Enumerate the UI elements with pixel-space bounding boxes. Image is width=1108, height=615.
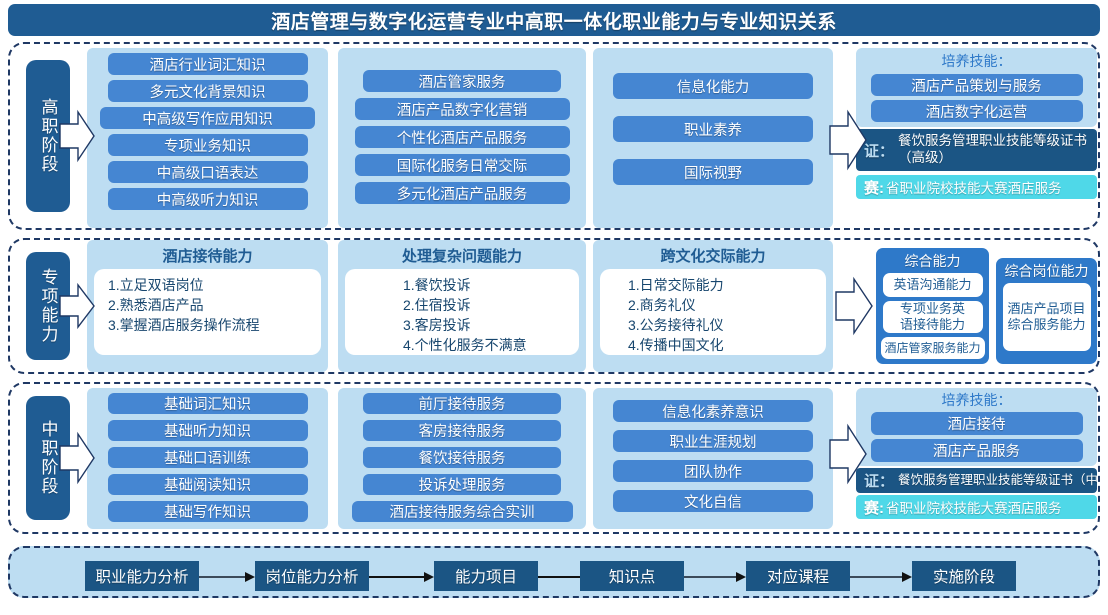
certificate-bar-r1: 证： 餐饮服务管理职业技能等级证书（高级） — [856, 129, 1097, 171]
certificate-text-r3: 餐饮服务管理职业技能等级证书（中 — [898, 473, 1097, 489]
pill-r3c2-3[interactable]: 投诉处理服务 — [363, 474, 561, 495]
flow-step-0[interactable]: 职业能力分析 — [85, 561, 199, 591]
pill-r1c2-1[interactable]: 酒店产品数字化营销 — [355, 98, 570, 120]
pill-r1c1-2[interactable]: 中高级写作应用知识 — [100, 107, 315, 129]
stage-label-secondary-vocational: 中职阶段 — [26, 396, 70, 520]
pill-r3c1-1[interactable]: 基础听力知识 — [108, 420, 308, 441]
panel-r2-col1: 酒店接待能力 1.立足双语岗位 2.熟悉酒店产品 3.掌握酒店服务操作流程 — [87, 240, 328, 372]
flow-step-2[interactable]: 能力项目 — [434, 561, 538, 591]
capability-card-r2c1: 1.立足双语岗位 2.熟悉酒店产品 3.掌握酒店服务操作流程 — [94, 269, 321, 355]
pill-r1c2-0[interactable]: 酒店管家服务 — [363, 70, 561, 92]
composite-post-ability-item-0-text: 酒店产品项目 综合服务能力 — [1007, 301, 1085, 332]
pill-r3c1-2[interactable]: 基础口语训练 — [108, 447, 308, 468]
skills-title-r3: 培养技能： — [856, 388, 1097, 410]
capability-item-r2c2-1: 2.住宿投诉 — [403, 296, 579, 316]
pill-r1c3-0[interactable]: 信息化能力 — [613, 73, 813, 99]
capability-item-r2c1-1: 2.熟悉酒店产品 — [108, 296, 321, 316]
skills-title-r1: 培养技能： — [856, 48, 1097, 71]
pill-r1c1-1[interactable]: 多元文化背景知识 — [108, 80, 308, 102]
capability-item-r2c1-2: 3.掌握酒店服务操作流程 — [108, 316, 321, 336]
pill-r1c1-4[interactable]: 中高级口语表达 — [108, 161, 308, 183]
flow-step-5[interactable]: 实施阶段 — [912, 561, 1016, 591]
panel-r3-col2: 前厅接待服务 客房接待服务 餐饮接待服务 投诉处理服务 酒店接待服务综合实训 — [338, 388, 586, 529]
pill-r3c3-3[interactable]: 文化自信 — [613, 490, 813, 512]
pill-r1c1-0[interactable]: 酒店行业词汇知识 — [108, 53, 308, 75]
flow-step-1[interactable]: 岗位能力分析 — [255, 561, 369, 591]
pill-r1c2-2[interactable]: 个性化酒店产品服务 — [355, 126, 570, 148]
capability-item-r2c3-3: 4.传播中国文化 — [628, 336, 826, 356]
capability-item-r2c2-2: 3.客房投诉 — [403, 316, 579, 336]
pill-r3c3-0[interactable]: 信息化素养意识 — [613, 400, 813, 422]
page-title-text: 酒店管理与数字化运营专业中高职一体化职业能力与专业知识关系 — [271, 7, 837, 34]
composite-ability-item-1-text: 专项业务英 语接待能力 — [900, 301, 965, 332]
composite-ability-item-0[interactable]: 英语沟通能力 — [883, 273, 983, 297]
capability-item-r2c3-1: 2.商务礼仪 — [628, 296, 826, 316]
composite-ability-title: 综合能力 — [876, 248, 989, 273]
capability-item-r2c3-0: 1.日常交际能力 — [628, 276, 826, 296]
flow-connector-3-icon — [684, 570, 746, 582]
pill-r3c2-1[interactable]: 客房接待服务 — [363, 420, 561, 441]
composite-ability-item-1[interactable]: 专项业务英 语接待能力 — [883, 301, 983, 333]
diagram-root: 酒店管理与数字化运营专业中高职一体化职业能力与专业知识关系 高职阶段 酒店行业词… — [0, 0, 1108, 615]
panel-r2-col3: 跨文化交际能力 1.日常交际能力 2.商务礼仪 3.公务接待礼仪 4.传播中国文… — [593, 240, 833, 372]
stage-label-text: 中职阶段 — [38, 420, 57, 496]
stage-label-specialized-ability: 专项能力 — [26, 252, 70, 360]
stage-row-higher-vocational: 高职阶段 酒店行业词汇知识 多元文化背景知识 中高级写作应用知识 专项业务知识 … — [8, 42, 1100, 230]
flow-connector-0-icon — [199, 570, 255, 582]
panel-r3-col1: 基础词汇知识 基础听力知识 基础口语训练 基础阅读知识 基础写作知识 — [87, 388, 328, 529]
composite-ability-box: 综合能力 英语沟通能力 专项业务英 语接待能力 酒店管家服务能力 — [876, 248, 989, 364]
certificate-bar-r3: 证： 餐饮服务管理职业技能等级证书（中 — [856, 468, 1097, 493]
certificate-text-r1: 餐饮服务管理职业技能等级证书（高级） — [898, 133, 1097, 167]
pill-r1c3-1[interactable]: 职业素养 — [613, 116, 813, 142]
capability-item-r2c2-0: 1.餐饮投诉 — [403, 276, 579, 296]
pill-r3c3-1[interactable]: 职业生涯规划 — [613, 430, 813, 452]
stage-row-secondary-vocational: 中职阶段 基础词汇知识 基础听力知识 基础口语训练 基础阅读知识 基础写作知识 … — [8, 382, 1100, 534]
capability-card-r2c2: 1.餐饮投诉 2.住宿投诉 3.客房投诉 4.个性化服务不满意 — [345, 269, 579, 355]
capability-heading-r2c2: 处理复杂问题能力 — [338, 240, 586, 269]
pill-r1c1-3[interactable]: 专项业务知识 — [108, 134, 308, 156]
stage-label-higher-vocational: 高职阶段 — [26, 60, 70, 212]
pill-r1c3-2[interactable]: 国际视野 — [613, 159, 813, 185]
panel-r3-col3: 信息化素养意识 职业生涯规划 团队协作 文化自信 — [593, 388, 833, 529]
panel-r2-col2: 处理复杂问题能力 1.餐饮投诉 2.住宿投诉 3.客房投诉 4.个性化服务不满意 — [338, 240, 586, 372]
skill-pill-r3-1[interactable]: 酒店产品服务 — [871, 439, 1083, 462]
skill-pill-r3-0[interactable]: 酒店接待 — [871, 412, 1083, 435]
panel-r1-col1: 酒店行业词汇知识 多元文化背景知识 中高级写作应用知识 专项业务知识 中高级口语… — [87, 48, 328, 228]
panel-r1-col3: 信息化能力 职业素养 国际视野 — [593, 48, 833, 228]
competition-bar-r1: 赛: 省职业院校技能大赛酒店服务 — [856, 175, 1097, 199]
composite-post-ability-item-0[interactable]: 酒店产品项目 综合服务能力 — [1003, 283, 1091, 351]
pill-r3c1-3[interactable]: 基础阅读知识 — [108, 474, 308, 495]
pill-r1c1-5[interactable]: 中高级听力知识 — [108, 188, 308, 210]
pill-r3c2-2[interactable]: 餐饮接待服务 — [363, 447, 561, 468]
capability-card-r2c3: 1.日常交际能力 2.商务礼仪 3.公务接待礼仪 4.传播中国文化 — [600, 269, 826, 355]
pill-r3c1-0[interactable]: 基础词汇知识 — [108, 393, 308, 414]
panel-r3-skills: 培养技能： 酒店接待 酒店产品服务 — [856, 388, 1097, 466]
flow-step-3[interactable]: 知识点 — [580, 561, 684, 591]
page-title: 酒店管理与数字化运营专业中高职一体化职业能力与专业知识关系 — [8, 4, 1100, 36]
stage-label-text: 高职阶段 — [38, 98, 57, 174]
pill-r3c2-4[interactable]: 酒店接待服务综合实训 — [352, 501, 573, 522]
competition-bar-r3: 赛: 省职业院校技能大赛酒店服务 — [856, 495, 1097, 519]
stage-label-text: 专项能力 — [38, 268, 57, 344]
pill-r3c3-2[interactable]: 团队协作 — [613, 460, 813, 482]
competition-text-r1: 省职业院校技能大赛酒店服务 — [886, 177, 1097, 197]
composite-post-ability-box: 综合岗位能力 酒店产品项目 综合服务能力 — [996, 258, 1097, 364]
flow-step-4[interactable]: 对应课程 — [746, 561, 850, 591]
skill-pill-r1-1[interactable]: 酒店数字化运营 — [871, 100, 1083, 122]
panel-r1-col2: 酒店管家服务 酒店产品数字化营销 个性化酒店产品服务 国际化服务日常交际 多元化… — [338, 48, 586, 228]
pill-r1c2-3[interactable]: 国际化服务日常交际 — [355, 154, 570, 176]
competition-label-r3: 赛: — [856, 497, 886, 518]
capability-item-r2c2-3: 4.个性化服务不满意 — [403, 336, 579, 356]
composite-post-ability-title: 综合岗位能力 — [996, 258, 1097, 283]
capability-item-r2c3-2: 3.公务接待礼仪 — [628, 316, 826, 336]
flow-connector-1-icon — [369, 570, 434, 582]
certificate-label-r3: 证： — [856, 470, 898, 491]
competition-label-r1: 赛: — [856, 177, 886, 198]
panel-r1-skills: 培养技能： 酒店产品策划与服务 酒店数字化运营 — [856, 48, 1097, 127]
composite-ability-item-2[interactable]: 酒店管家服务能力 — [881, 337, 985, 359]
capability-heading-r2c1: 酒店接待能力 — [87, 240, 328, 269]
flow-connector-4-icon — [850, 570, 912, 582]
pill-r3c1-4[interactable]: 基础写作知识 — [108, 501, 308, 522]
pill-r1c2-4[interactable]: 多元化酒店产品服务 — [355, 182, 570, 204]
pill-r3c2-0[interactable]: 前厅接待服务 — [363, 393, 561, 414]
competition-text-r3: 省职业院校技能大赛酒店服务 — [886, 497, 1097, 517]
capability-heading-r2c3: 跨文化交际能力 — [593, 240, 833, 269]
flow-arrow-r2-icon — [834, 270, 874, 342]
capability-item-r2c1-0: 1.立足双语岗位 — [108, 276, 321, 296]
skill-pill-r1-0[interactable]: 酒店产品策划与服务 — [871, 74, 1083, 96]
stage-row-specialized-ability: 专项能力 酒店接待能力 1.立足双语岗位 2.熟悉酒店产品 3.掌握酒店服务操作… — [8, 238, 1100, 374]
certificate-label-r1: 证： — [856, 140, 898, 161]
